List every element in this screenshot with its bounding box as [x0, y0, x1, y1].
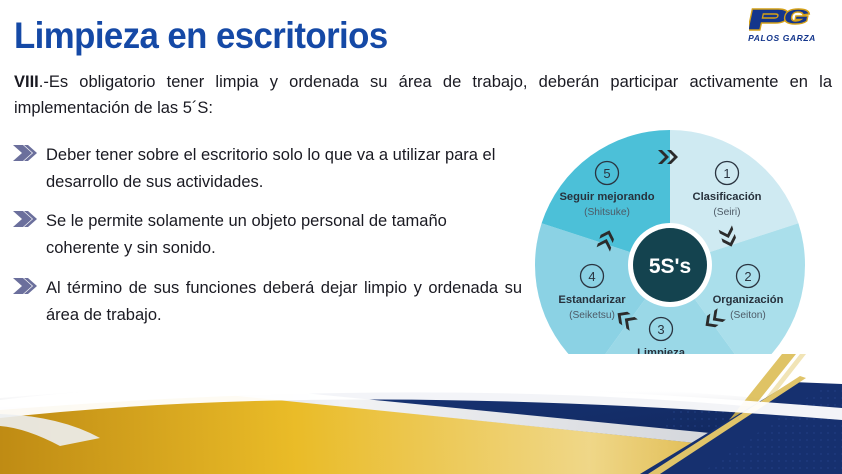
list-item-label: Deber tener sobre el escritorio solo lo … [46, 146, 495, 191]
intro-text: .-Es obligatorio tener limpia y ordenada… [14, 73, 832, 117]
intro-paragraph: VIII.-Es obligatorio tener limpia y orde… [14, 69, 832, 121]
wheel-number-5: 5 [603, 166, 610, 181]
page-title: Limpieza en escritorios [14, 17, 388, 54]
company-logo: PALOS GARZA [736, 6, 828, 50]
intro-numeral: VIII [14, 73, 39, 91]
wheel-title-3: Limpieza [637, 347, 686, 359]
wheel-title-2: Organización [713, 294, 784, 306]
wheel-subtitle-4: (Seiketsu) [569, 310, 615, 321]
logo-wordmark: PALOS GARZA [736, 33, 828, 43]
wheel-title-1: Clasificación [692, 191, 761, 203]
wheel-number-1: 1 [723, 166, 730, 181]
wheel-subtitle-5: (Shitsuke) [584, 207, 630, 218]
wheel-subtitle-2: (Seiton) [730, 310, 766, 321]
pg-monogram-icon [736, 6, 828, 32]
bullet-list: Deber tener sobre el escritorio solo lo … [10, 142, 522, 341]
five-s-wheel-diagram: 5S's 1 Clasificación (Seiri) 2 Organizac… [531, 126, 809, 404]
list-item: Al término de sus funciones deberá dejar… [10, 275, 522, 328]
wheel-number-3: 3 [657, 322, 664, 337]
list-item: Se le permite solamente un objeto person… [10, 208, 522, 261]
slide-root: PALOS GARZA Limpieza en escritorios VIII… [0, 0, 842, 474]
chevron-bullet-icon [12, 144, 40, 164]
wheel-title-5: Seguir mejorando [559, 191, 654, 203]
wheel-title-4: Estandarizar [558, 294, 626, 306]
chevron-bullet-icon [12, 277, 40, 297]
wheel-number-4: 4 [588, 269, 595, 284]
wheel-subtitle-3: (Seiso) [645, 363, 677, 374]
chevron-bullet-icon [12, 210, 40, 230]
list-item: Deber tener sobre el escritorio solo lo … [10, 142, 522, 195]
list-item-label: Se le permite solamente un objeto person… [46, 212, 447, 257]
wheel-hub-label: 5S's [649, 255, 691, 278]
list-item-label: Al término de sus funciones deberá dejar… [46, 279, 522, 324]
wheel-number-2: 2 [744, 269, 751, 284]
wheel-subtitle-1: (Seiri) [713, 207, 740, 218]
